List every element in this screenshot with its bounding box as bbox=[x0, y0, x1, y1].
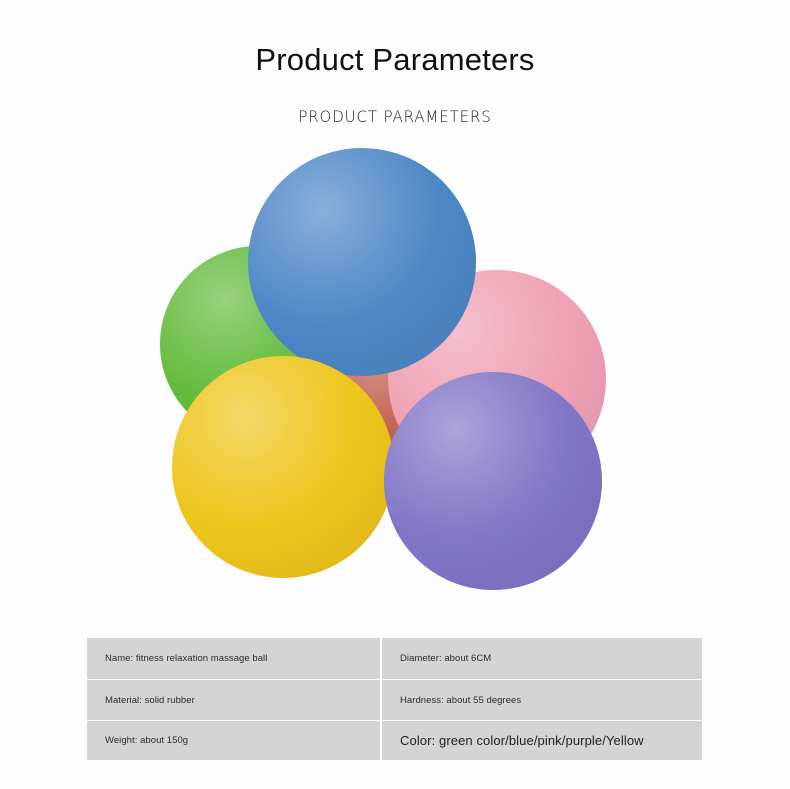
table-cell-weight-text: Weight: about 150g bbox=[105, 735, 188, 746]
page-subtitle: PRODUCT PARAMETERS bbox=[24, 106, 767, 128]
table-cell-material-text: Material: solid rubber bbox=[105, 695, 195, 706]
table-cell-name-text: Name: fitness relaxation massage ball bbox=[105, 653, 267, 664]
params-table: Name: fitness relaxation massage ball Di… bbox=[87, 638, 702, 760]
table-cell-color: Color: green color/blue/pink/purple/Yell… bbox=[382, 721, 702, 760]
blue-ball bbox=[248, 148, 476, 376]
table-cell-color-text: Color: green color/blue/pink/purple/Yell… bbox=[400, 733, 644, 748]
table-cell-name: Name: fitness relaxation massage ball bbox=[87, 638, 380, 679]
page-title: Product Parameters bbox=[0, 40, 790, 80]
purple-ball bbox=[384, 372, 602, 590]
product-photo bbox=[160, 148, 630, 588]
table-cell-hardness-text: Hardness: about 55 degrees bbox=[400, 695, 521, 706]
yellow-ball bbox=[172, 356, 394, 578]
table-cell-weight: Weight: about 150g bbox=[87, 721, 380, 760]
table-cell-material: Material: solid rubber bbox=[87, 680, 380, 720]
table-cell-diameter-text: Diameter: about 6CM bbox=[400, 653, 491, 664]
table-cell-diameter: Diameter: about 6CM bbox=[382, 638, 702, 679]
table-cell-hardness: Hardness: about 55 degrees bbox=[382, 680, 702, 720]
